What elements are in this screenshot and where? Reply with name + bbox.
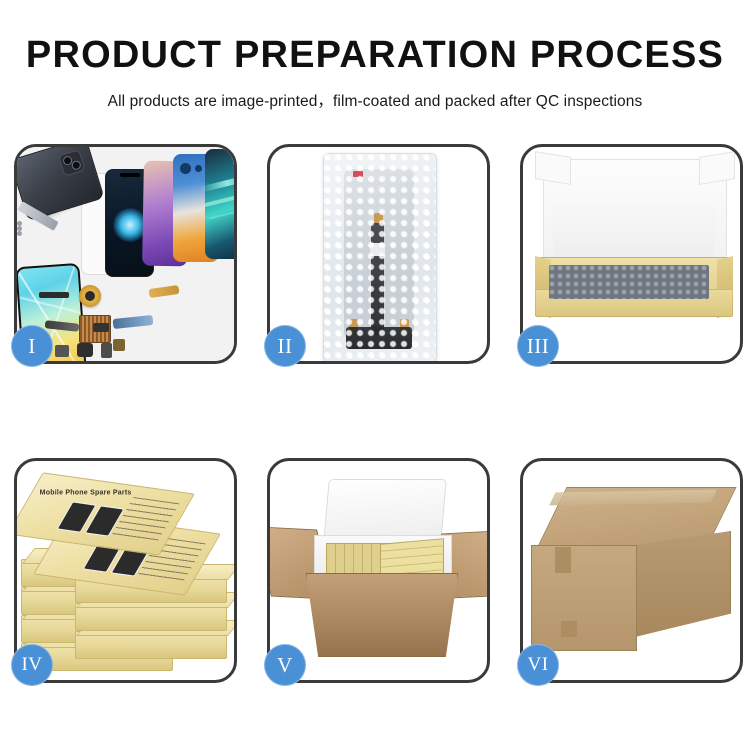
box-stack-illustration: Mobile Phone Spare Parts Mobile Phone Sp… [21,475,233,671]
process-step-grid: I II [14,144,736,684]
foam-lid-icon [323,479,447,543]
lcd-connector-icon [346,327,412,349]
phones-and-parts-illustration [17,147,234,361]
flex-cable-icon-c [113,315,154,329]
step-badge-6: VI [517,644,559,686]
wallpaper-orb-icon [113,208,147,242]
step-badge-5: V [264,644,306,686]
small-component-icon-7 [113,339,125,351]
phone-notch-icon [120,173,140,177]
box-label-text: Mobile Phone Spare Parts [40,489,132,497]
red-label-sticker-icon [353,171,363,177]
step-4-image: Mobile Phone Spare Parts Mobile Phone Sp… [17,461,234,680]
step-badge-1: I [11,325,53,367]
punch-hole-camera-icon [180,163,191,174]
product-preparation-page: PRODUCT PREPARATION PROCESS All products… [0,0,750,750]
process-step-panel-5[interactable]: V [267,458,490,683]
page-title: PRODUCT PREPARATION PROCESS [0,36,750,76]
flex-cable-icon-a [149,285,180,298]
process-step-panel-2[interactable]: II [267,144,490,364]
carton-seam-icon-2 [561,621,577,637]
small-component-icon-4 [101,343,112,358]
wallpaper-streak-icon [199,173,234,193]
process-step-panel-1[interactable]: I [14,144,237,364]
process-step-panel-3[interactable]: III [520,144,743,364]
carton-seam-icon-1 [555,547,571,573]
step-2-image [270,147,487,361]
step-5-image [270,461,487,680]
copper-coil-icon [79,285,101,307]
step-badge-4: IV [11,644,53,686]
box-spec-lines-icon [112,497,180,541]
carton-front-face-icon [531,545,637,651]
step-3-image [523,147,740,361]
step-6-image [523,461,740,680]
step-badge-3: III [517,325,559,367]
page-subtitle: All products are image-printed，film-coat… [0,89,750,111]
carton-body-icon [306,573,458,657]
process-step-panel-4[interactable]: Mobile Phone Spare Parts Mobile Phone Sp… [14,458,237,683]
small-component-icon-5 [93,323,109,332]
rear-camera-module-icon [58,149,85,176]
teal-phone-icon [205,149,234,259]
bubble-wrapped-contents-icon [549,265,709,299]
small-component-icon-2 [55,345,69,357]
driver-ic-icon [370,243,385,256]
header: PRODUCT PREPARATION PROCESS All products… [0,0,750,111]
process-step-panel-6[interactable]: VI [520,458,743,683]
carton-side-face-icon [635,531,731,637]
screw-icon-3 [17,231,22,236]
step-badge-2: II [264,325,306,367]
stacked-box-icon-5 [75,631,227,659]
step-1-image [17,147,234,361]
stacked-box-icon-6 [75,603,227,631]
speaker-bar-icon [39,292,69,298]
lcd-flex-cable-icon [371,223,384,335]
small-component-icon-3 [77,343,93,357]
